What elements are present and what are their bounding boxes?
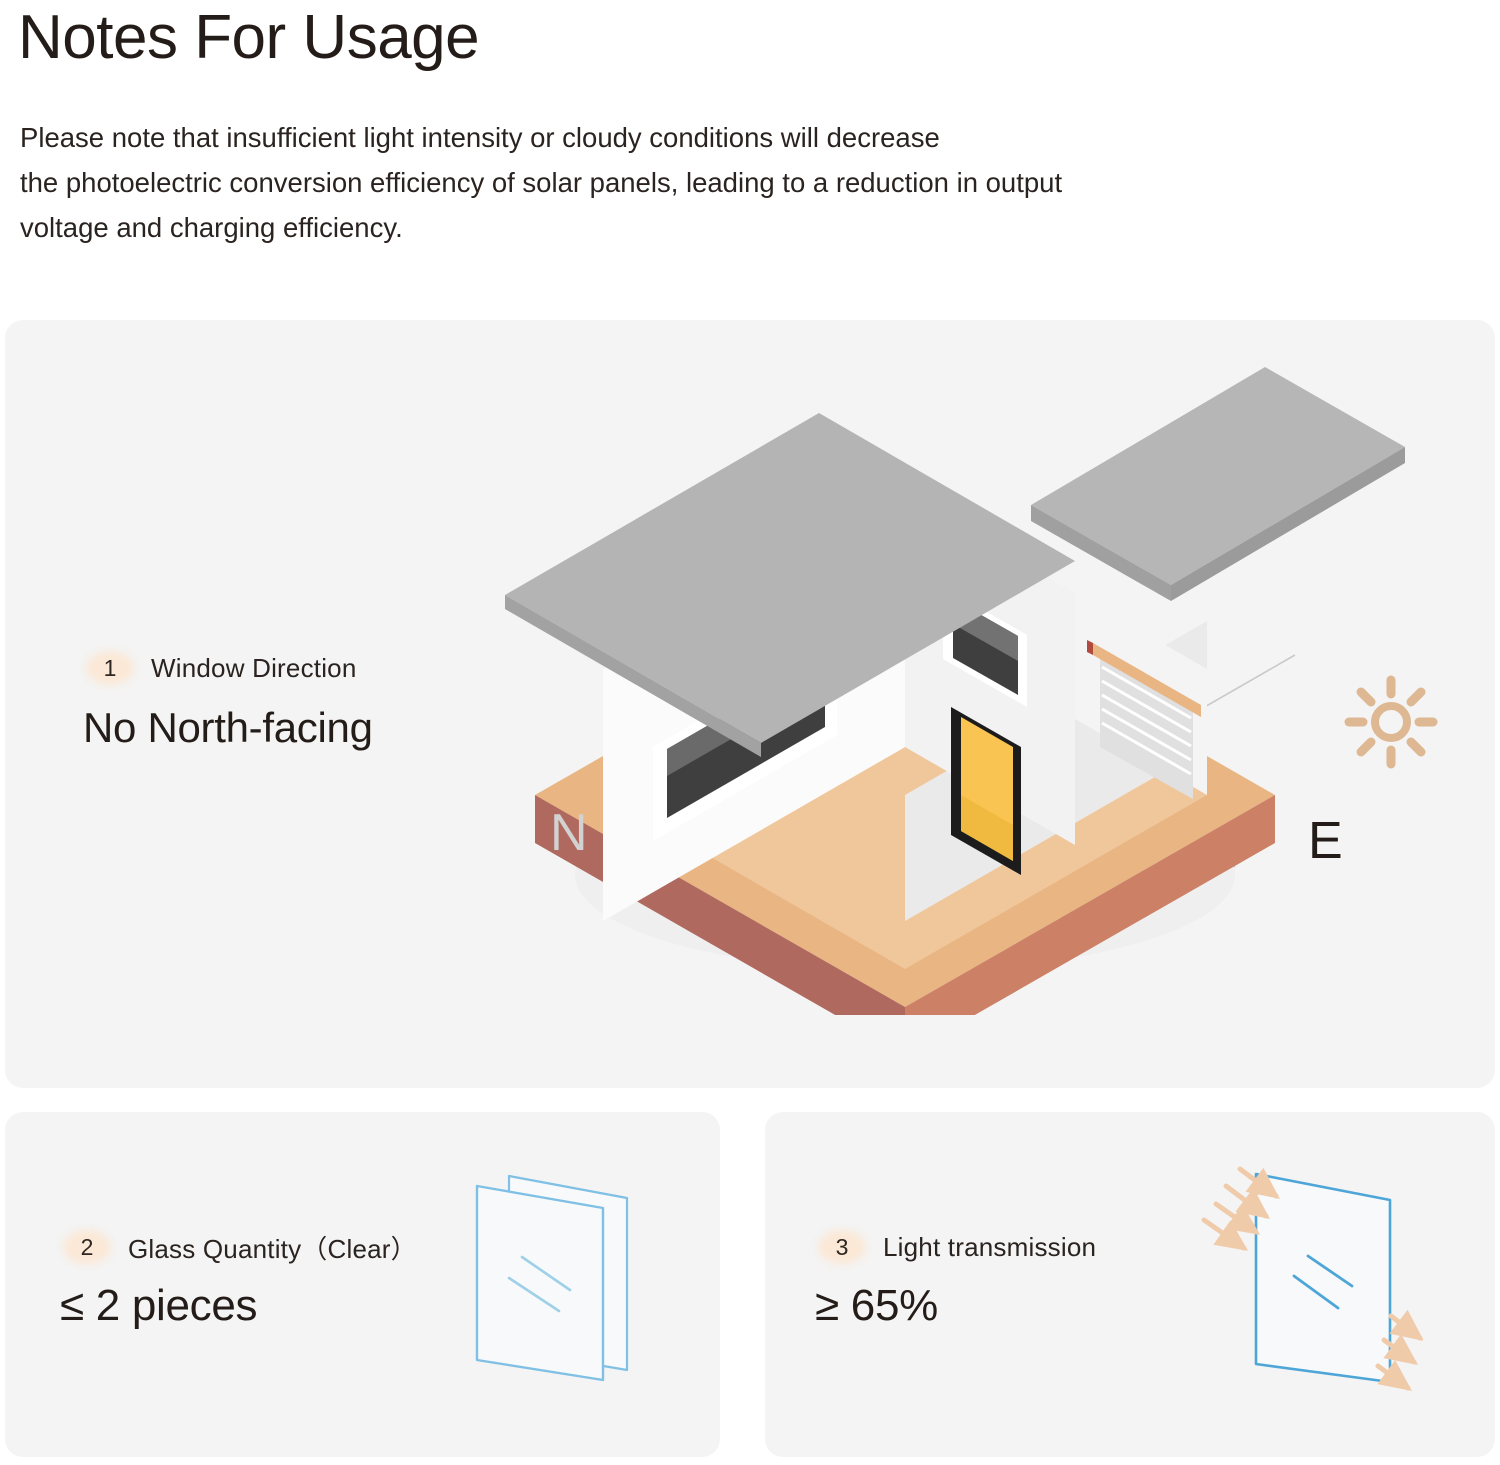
step-badge-1: 1 (83, 648, 137, 688)
compass-label-east: E (1308, 815, 1343, 867)
double-glass-pane-icon (467, 1164, 652, 1389)
light-transmission-text: 3 Light transmission ≥ 65% (815, 1227, 1096, 1331)
intro-paragraph: Please note that insufficient light inte… (20, 115, 1350, 250)
window-direction-label-row: 1 Window Direction (83, 648, 373, 688)
light-transmission-label: Light transmission (883, 1232, 1096, 1263)
step-badge-3: 3 (815, 1227, 869, 1267)
intro-line-3: voltage and charging efficiency. (20, 205, 1350, 250)
house-isometric-illustration (475, 355, 1425, 1015)
glass-quantity-label-row: 2 Glass Quantity（Clear） (60, 1227, 417, 1267)
card-glass-quantity: 2 Glass Quantity（Clear） ≤ 2 pieces (5, 1112, 720, 1457)
light-transmission-label-row: 3 Light transmission (815, 1227, 1096, 1267)
glass-quantity-text: 2 Glass Quantity（Clear） ≤ 2 pieces (60, 1227, 417, 1331)
glass-quantity-value: ≤ 2 pieces (60, 1281, 417, 1331)
notes-for-usage-page: Notes For Usage Please note that insuffi… (0, 0, 1500, 1465)
light-through-glass-icon (1188, 1160, 1423, 1405)
card-window-direction: 1 Window Direction No North-facing (5, 320, 1495, 1088)
step-badge-2-number: 2 (81, 1234, 94, 1261)
intro-line-1: Please note that insufficient light inte… (20, 115, 1350, 160)
window-direction-label: Window Direction (151, 653, 357, 684)
light-transmission-value: ≥ 65% (815, 1281, 1096, 1331)
window-direction-text: 1 Window Direction No North-facing (83, 648, 373, 752)
step-badge-2: 2 (60, 1227, 114, 1267)
window-direction-value: No North-facing (83, 704, 373, 752)
step-badge-3-number: 3 (836, 1234, 849, 1261)
card-light-transmission: 3 Light transmission ≥ 65% (765, 1112, 1495, 1457)
page-title: Notes For Usage (18, 2, 479, 73)
compass-label-north: N (550, 807, 588, 859)
glass-quantity-label: Glass Quantity（Clear） (128, 1229, 417, 1266)
intro-line-2: the photoelectric conversion efficiency … (20, 160, 1350, 205)
step-badge-1-number: 1 (104, 655, 117, 682)
